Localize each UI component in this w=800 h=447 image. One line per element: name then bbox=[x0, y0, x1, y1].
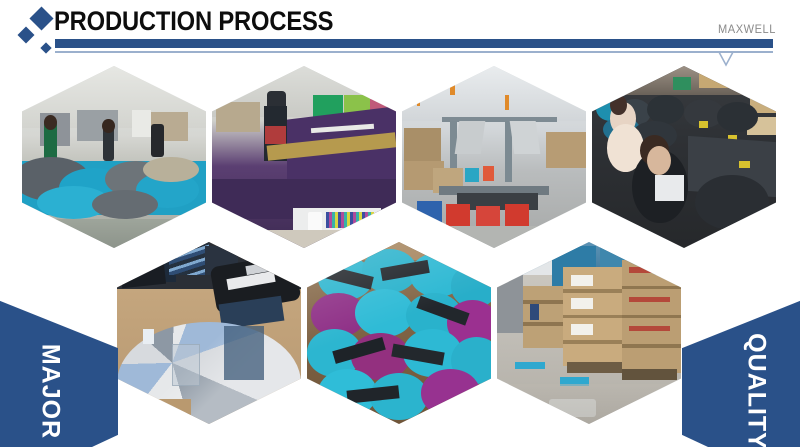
photo-packing-backpacks bbox=[592, 66, 776, 248]
photo-hexagon-5[interactable] bbox=[117, 242, 301, 424]
photo-hexagon-1[interactable] bbox=[22, 66, 206, 248]
diamond-icon-small bbox=[40, 42, 51, 53]
diamond-icon-large bbox=[29, 6, 53, 30]
banner-quality-label: QUALITY bbox=[742, 312, 771, 447]
photo-sorting-jackets bbox=[22, 66, 206, 248]
photo-hexagon-2[interactable] bbox=[212, 66, 396, 248]
banner-major: MAJOR bbox=[0, 293, 118, 447]
brand-name: MAXWELL bbox=[718, 22, 776, 36]
slide-root: PRODUCTION PROCESS MAXWELL bbox=[0, 0, 800, 447]
photo-hexagon-6[interactable] bbox=[307, 242, 491, 424]
photo-assembly-area bbox=[402, 66, 586, 248]
header-thin-rule bbox=[55, 51, 773, 53]
diamond-icon-medium bbox=[18, 27, 35, 44]
page-title: PRODUCTION PROCESS bbox=[54, 6, 333, 37]
photo-hexagon-7[interactable] bbox=[497, 242, 681, 424]
header-accent-bar bbox=[55, 39, 773, 48]
hexagon-photo-grid: MAJOR QUALITY bbox=[0, 56, 800, 447]
banner-quality: QUALITY bbox=[682, 293, 800, 447]
photo-cutting-fabric bbox=[212, 66, 396, 248]
banner-major-label: MAJOR bbox=[36, 322, 65, 447]
photo-hexagon-3[interactable] bbox=[402, 66, 586, 248]
photo-loading-dock bbox=[497, 242, 681, 424]
photo-folded-bags bbox=[117, 242, 301, 424]
header: PRODUCTION PROCESS MAXWELL bbox=[0, 0, 800, 62]
photo-packed-products bbox=[307, 242, 491, 424]
photo-hexagon-4[interactable] bbox=[592, 66, 776, 248]
